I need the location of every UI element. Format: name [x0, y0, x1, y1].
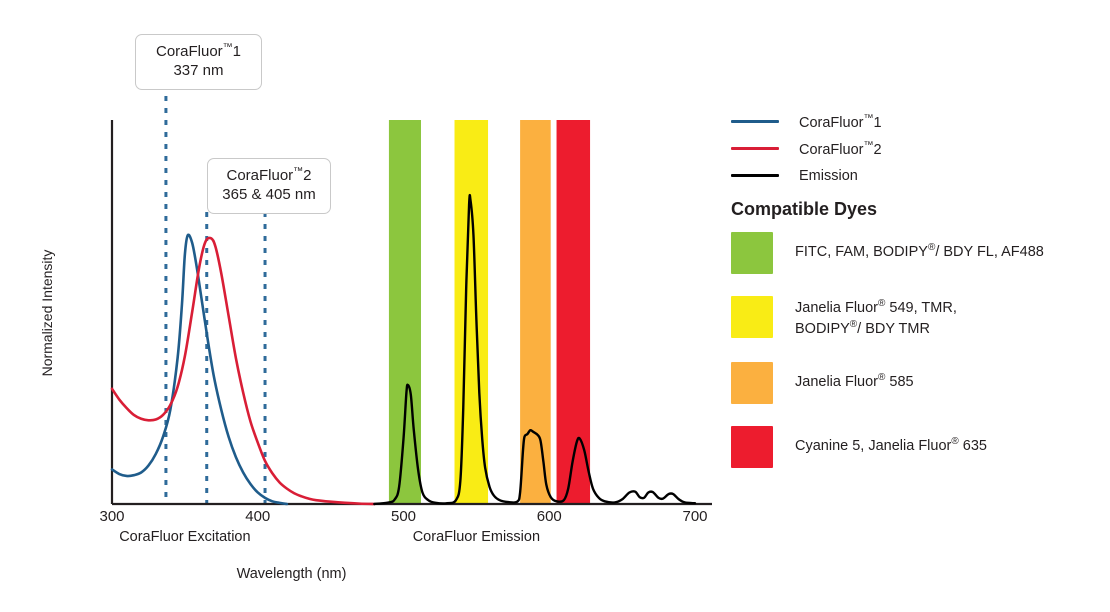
registered-icon: ® [928, 242, 935, 253]
legend-row-1: CoraFluor™2 [731, 135, 1103, 162]
legend-label: CoraFluor™2 [799, 140, 882, 158]
trademark-icon: ™ [293, 166, 303, 177]
dye-color-swatch [731, 232, 773, 274]
callout-1-line1: CoraFluor™1 [148, 42, 249, 62]
axis-section-emission: CoraFluor Emission [376, 529, 576, 545]
legend-label: CoraFluor™1 [799, 113, 882, 131]
axis-section-excitation: CoraFluor Excitation [85, 529, 285, 545]
dye-label-line: Cyanine 5, Janelia Fluor® 635 [795, 435, 987, 456]
dye-label-line: BODIPY®/ BDY TMR [795, 318, 957, 339]
dye-row-2: Janelia Fluor® 585 [731, 362, 1103, 404]
callout-1-line2: 337 nm [148, 62, 249, 81]
x-tick-300: 300 [82, 508, 142, 525]
dye-label: FITC, FAM, BODIPY®/ BDY FL, AF488 [795, 232, 1044, 262]
x-tick-700: 700 [665, 508, 725, 525]
dye-row-0: FITC, FAM, BODIPY®/ BDY FL, AF488 [731, 232, 1103, 274]
registered-icon: ® [850, 319, 857, 330]
dye-row-3: Cyanine 5, Janelia Fluor® 635 [731, 426, 1103, 468]
callout-2-line1: CoraFluor™2 [220, 166, 318, 186]
dye-label-line: Janelia Fluor® 585 [795, 371, 914, 392]
curve-excitation-0 [112, 235, 287, 504]
callout-2-line2: 365 & 405 nm [220, 186, 318, 205]
x-tick-500: 500 [374, 508, 434, 525]
legend-line-swatch [731, 174, 779, 177]
compatible-dyes-title: Compatible Dyes [731, 199, 877, 220]
callout-corafluor-1: CoraFluor™1 337 nm [135, 34, 262, 90]
dye-label: Janelia Fluor® 585 [795, 362, 914, 392]
dye-label-line: Janelia Fluor® 549, TMR, [795, 297, 957, 318]
compatible-dyes-list: FITC, FAM, BODIPY®/ BDY FL, AF488Janelia… [731, 232, 1103, 490]
wavelength-bands [389, 120, 590, 504]
spectra-figure: CoraFluor™1 337 nm CoraFluor™2 365 & 405… [0, 0, 1110, 612]
trademark-icon: ™ [223, 42, 233, 53]
curve-excitation-1 [112, 238, 374, 504]
trademark-icon: ™ [863, 140, 873, 151]
dye-label: Janelia Fluor® 549, TMR,BODIPY®/ BDY TMR [795, 296, 957, 340]
dye-row-1: Janelia Fluor® 549, TMR,BODIPY®/ BDY TMR [731, 296, 1103, 340]
registered-icon: ® [951, 436, 958, 447]
x-tick-400: 400 [228, 508, 288, 525]
dye-label: Cyanine 5, Janelia Fluor® 635 [795, 426, 987, 456]
registered-icon: ® [878, 298, 885, 309]
legend-row-2: Emission [731, 162, 1103, 189]
legend-line-swatch [731, 120, 779, 123]
legend-row-0: CoraFluor™1 [731, 108, 1103, 135]
dye-label-line: FITC, FAM, BODIPY®/ BDY FL, AF488 [795, 241, 1044, 262]
x-tick-600: 600 [519, 508, 579, 525]
dye-color-swatch [731, 296, 773, 338]
x-axis-label: Wavelength (nm) [0, 566, 583, 582]
red-band [557, 120, 591, 504]
callout-corafluor-2: CoraFluor™2 365 & 405 nm [207, 158, 331, 214]
dye-color-swatch [731, 362, 773, 404]
dye-color-swatch [731, 426, 773, 468]
orange-band [520, 120, 551, 504]
y-axis-label: Normalized Intensity [39, 233, 55, 393]
legend-line-swatch [731, 147, 779, 150]
series-legend: CoraFluor™1CoraFluor™2Emission [731, 108, 1103, 189]
registered-icon: ® [878, 372, 885, 383]
trademark-icon: ™ [863, 113, 873, 124]
legend-label: Emission [799, 168, 858, 184]
